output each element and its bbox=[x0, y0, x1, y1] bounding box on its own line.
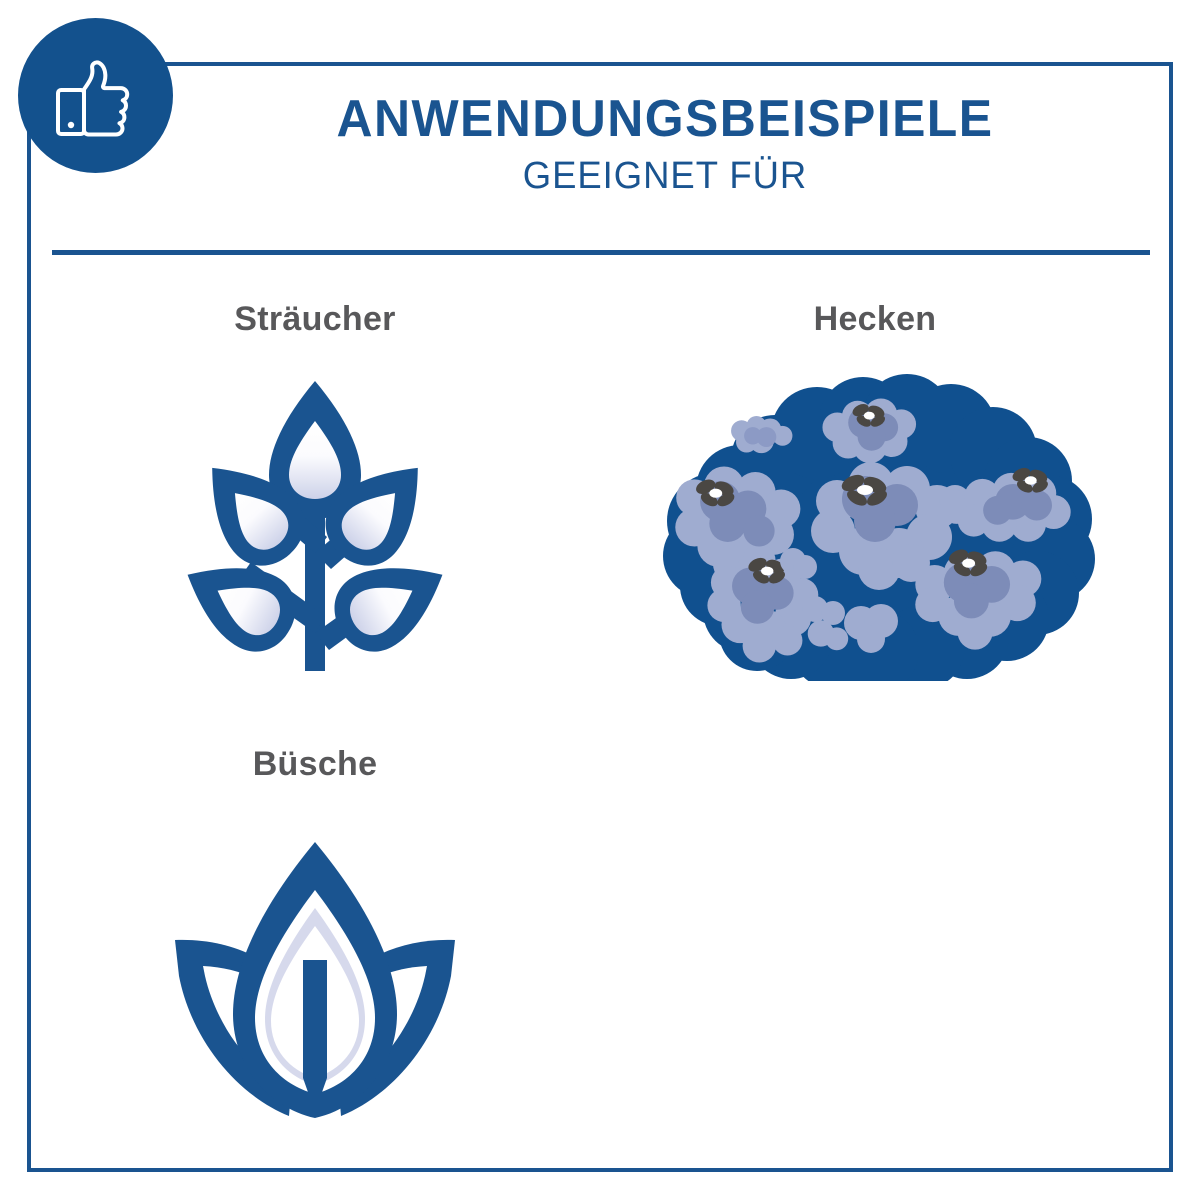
page-title: ANWENDUNGSBEISPIELE bbox=[199, 92, 1130, 147]
section-label-hecken: Hecken bbox=[668, 300, 1082, 339]
header: ANWENDUNGSBEISPIELE GEEIGNET FÜR bbox=[180, 92, 1150, 198]
hedge-bush-icon bbox=[645, 371, 1105, 686]
lotus-bush-icon bbox=[157, 816, 473, 1131]
poster-root: ANWENDUNGSBEISPIELE GEEIGNET FÜR Sträuch… bbox=[0, 0, 1200, 1200]
section-label-buesche: Büsche bbox=[108, 745, 522, 784]
section-hecken: Hecken bbox=[668, 300, 1082, 693]
page-subtitle: GEEIGNET FÜR bbox=[199, 155, 1130, 199]
thumbs-up-badge bbox=[18, 18, 173, 173]
section-art-buesche bbox=[108, 808, 522, 1138]
leaf-bottom-left bbox=[169, 539, 309, 664]
section-art-hecken bbox=[668, 363, 1082, 693]
section-art-straeucher bbox=[108, 363, 522, 693]
thumbs-up-icon bbox=[46, 46, 146, 146]
header-divider bbox=[52, 250, 1150, 255]
section-straeucher: Sträucher bbox=[108, 300, 522, 693]
branch-leaves-icon bbox=[155, 371, 475, 686]
section-buesche: Büsche bbox=[108, 745, 522, 1138]
section-label-straeucher: Sträucher bbox=[108, 300, 522, 339]
